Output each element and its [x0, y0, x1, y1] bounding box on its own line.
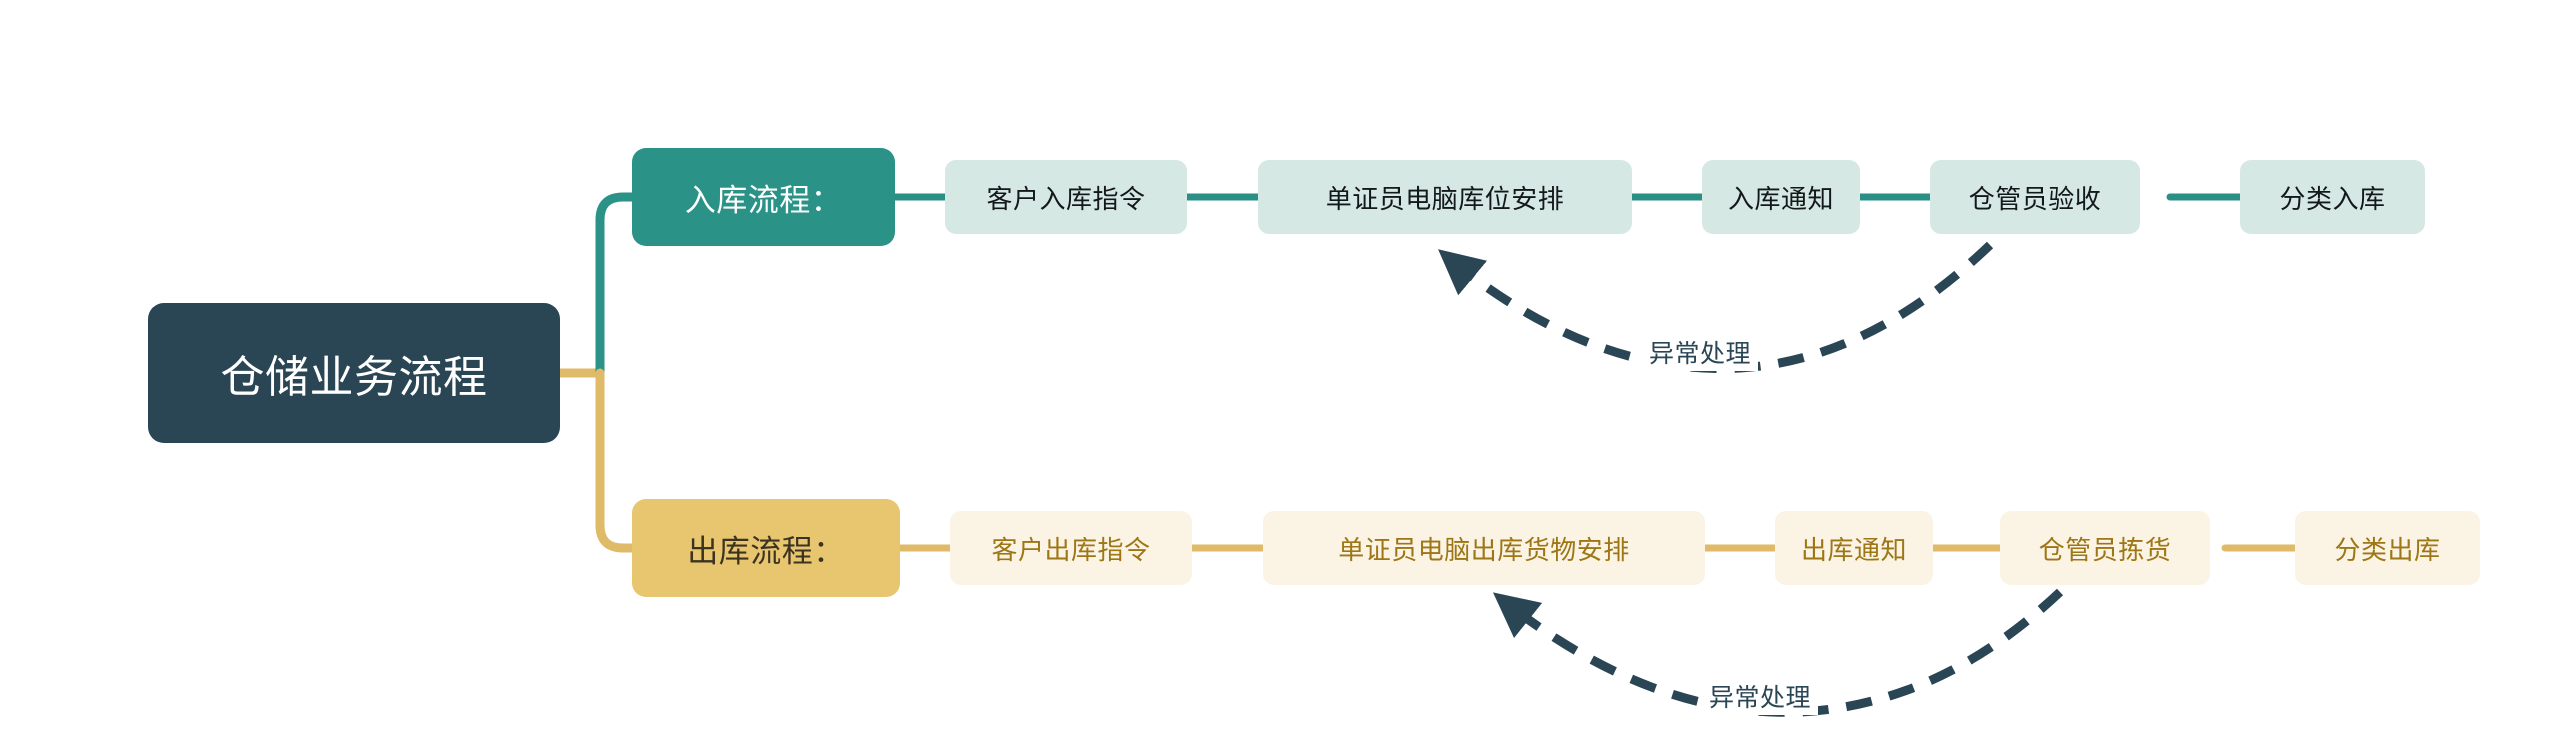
branch-header-outbound[interactable]: 出库流程： [632, 499, 900, 597]
step-outbound-1-label: 客户出库指令 [991, 530, 1150, 567]
step-outbound-4-label: 仓管员拣货 [2039, 530, 2172, 567]
edge-root-to-inbound [600, 197, 632, 373]
step-outbound-2[interactable]: 单证员电脑出库货物安排 [1263, 511, 1705, 585]
step-outbound-3[interactable]: 出库通知 [1775, 511, 1933, 585]
step-inbound-4-label: 仓管员验收 [1969, 179, 2102, 216]
step-inbound-3-label: 入库通知 [1728, 179, 1834, 216]
step-inbound-2[interactable]: 单证员电脑库位安排 [1258, 160, 1632, 234]
mindmap-canvas: 仓储业务流程 入库流程： 客户入库指令 单证员电脑库位安排 入库通知 仓管员验收… [0, 0, 2560, 741]
step-inbound-5-label: 分类入库 [2279, 179, 2385, 216]
exception-label-inbound: 异常处理 [1642, 333, 1758, 371]
step-outbound-5-label: 分类出库 [2334, 530, 2440, 567]
branch-header-inbound-label: 入库流程： [685, 175, 843, 220]
branch-header-outbound-label: 出库流程： [687, 526, 845, 571]
step-outbound-3-label: 出库通知 [1801, 530, 1907, 567]
step-inbound-1[interactable]: 客户入库指令 [945, 160, 1187, 234]
step-outbound-4[interactable]: 仓管员拣货 [2000, 511, 2210, 585]
step-outbound-5[interactable]: 分类出库 [2295, 511, 2480, 585]
step-inbound-3[interactable]: 入库通知 [1702, 160, 1860, 234]
step-outbound-2-label: 单证员电脑出库货物安排 [1338, 530, 1630, 567]
exception-label-outbound: 异常处理 [1702, 677, 1818, 715]
edge-root-to-outbound [600, 373, 632, 548]
root-node-label: 仓储业务流程 [221, 341, 488, 405]
step-inbound-5[interactable]: 分类入库 [2240, 160, 2425, 234]
step-inbound-4[interactable]: 仓管员验收 [1930, 160, 2140, 234]
step-inbound-1-label: 客户入库指令 [986, 179, 1145, 216]
step-inbound-2-label: 单证员电脑库位安排 [1326, 179, 1565, 216]
branch-header-inbound[interactable]: 入库流程： [632, 148, 895, 246]
root-node[interactable]: 仓储业务流程 [148, 303, 560, 443]
step-outbound-1[interactable]: 客户出库指令 [950, 511, 1192, 585]
